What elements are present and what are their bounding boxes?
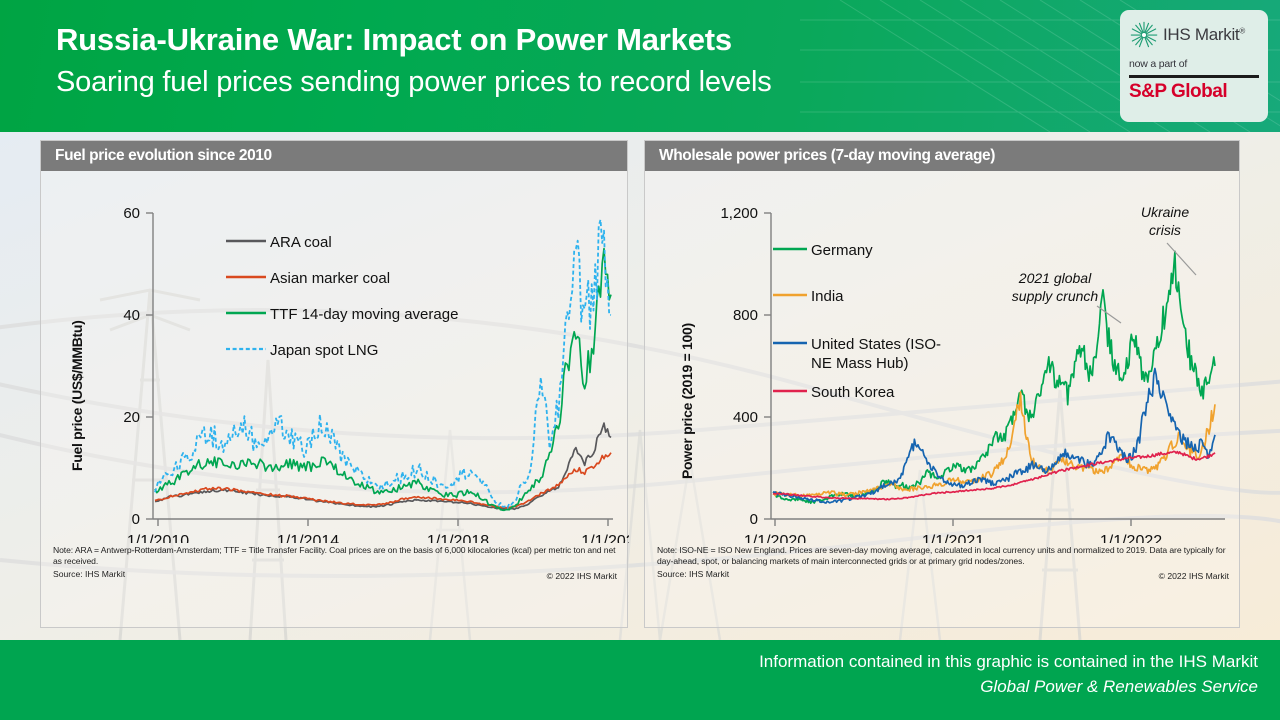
slide-header: Russia-Ukraine War: Impact on Power Mark… [0, 0, 1280, 132]
series-line-ttf-14-day-moving-average [155, 249, 611, 511]
legend-label: Japan spot LNG [270, 342, 378, 359]
note-source: Source: IHS Markit [53, 569, 617, 579]
svg-text:2021 global: 2021 global [1018, 270, 1092, 286]
note-copyright: © 2022 IHS Markit [1159, 571, 1229, 581]
legend-power-prices: GermanyIndiaUnited States (ISO-NE Mass H… [773, 242, 941, 401]
panel-note-fuel-prices: Note: ARA = Antwerp-Rotterdam-Amsterdam;… [41, 541, 627, 585]
logo-ihs-markit-text: IHS Markit® [1163, 25, 1245, 45]
panel-title-fuel-prices: Fuel price evolution since 2010 [41, 141, 627, 171]
legend-label: Asian marker coal [270, 270, 390, 287]
panel-power-prices: Wholesale power prices (7-day moving ave… [644, 140, 1240, 628]
series-line-ara-coal [155, 423, 611, 510]
legend-label: South Korea [811, 384, 895, 401]
svg-text:Ukraine: Ukraine [1141, 204, 1189, 220]
panel-note-power-prices: Note: ISO-NE = ISO New England. Prices a… [645, 541, 1239, 585]
legend-label: Germany [811, 242, 873, 259]
legend-label: United States (ISO- [811, 336, 941, 353]
chart-fuel-prices: 0 20 40 60 1/1/2010 1/1/2014 1/1/2018 1/… [41, 171, 627, 543]
ytick-label: 20 [123, 409, 140, 426]
logo-trademark: ® [1239, 26, 1245, 35]
ytick-label: 1,200 [720, 205, 758, 222]
note-text: Note: ARA = Antwerp-Rotterdam-Amsterdam;… [53, 545, 617, 568]
footer-text-line1: Information contained in this graphic is… [759, 652, 1258, 672]
series-line-asian-marker-coal [155, 453, 611, 508]
logo-tagline: now a part of [1129, 58, 1259, 70]
footer-text-line2: Global Power & Renewables Service [980, 677, 1258, 697]
panel-title-power-prices: Wholesale power prices (7-day moving ave… [645, 141, 1239, 171]
axis-lines [146, 213, 613, 526]
ytick-label: 0 [132, 511, 140, 528]
panel-body-fuel-prices: 0 20 40 60 1/1/2010 1/1/2014 1/1/2018 1/… [41, 171, 627, 585]
legend-label: ARA coal [270, 234, 332, 251]
ihs-markit-sunburst-icon [1129, 20, 1159, 50]
yaxis-label-fuel: Fuel price (US$/MMBtu) [69, 320, 85, 471]
logo-divider [1129, 75, 1259, 78]
slide: Russia-Ukraine War: Impact on Power Mark… [0, 0, 1280, 720]
series-group-fuel [155, 220, 611, 511]
panel-body-power-prices: 0 400 800 1,200 1/1/2020 1/1/2021 1/1/20… [645, 171, 1239, 585]
ytick-label: 40 [123, 307, 140, 324]
page-title: Russia-Ukraine War: Impact on Power Mark… [56, 22, 732, 58]
legend-label: NE Mass Hub) [811, 355, 909, 372]
panel-fuel-prices: Fuel price evolution since 2010 [40, 140, 628, 628]
yaxis-label-power: Power price (2019 = 100) [679, 323, 695, 479]
logo-sp-global: S&P Global [1129, 81, 1259, 103]
ytick-label: 0 [750, 511, 758, 528]
legend-label: TTF 14-day moving average [270, 306, 458, 323]
ytick-label: 60 [123, 205, 140, 222]
series-line-india [773, 392, 1215, 498]
slide-footer: Information contained in this graphic is… [0, 640, 1280, 720]
svg-text:crisis: crisis [1149, 222, 1181, 238]
note-source: Source: IHS Markit [657, 569, 1229, 579]
legend-label: India [811, 288, 844, 305]
note-copyright: © 2022 IHS Markit [547, 571, 617, 581]
note-text: Note: ISO-NE = ISO New England. Prices a… [657, 545, 1229, 568]
brand-logo: IHS Markit® now a part of S&P Global [1120, 10, 1268, 122]
ytick-label: 800 [733, 307, 758, 324]
chart-power-prices: 0 400 800 1,200 1/1/2020 1/1/2021 1/1/20… [645, 171, 1239, 543]
annotation-ukraine-crisis: Ukraine crisis [1141, 204, 1196, 275]
ytick-label: 400 [733, 409, 758, 426]
legend-fuel-prices: ARA coalAsian marker coalTTF 14-day movi… [226, 234, 458, 359]
page-subtitle: Soaring fuel prices sending power prices… [56, 66, 772, 99]
logo-brand-name: IHS Markit [1163, 25, 1239, 44]
svg-text:supply crunch: supply crunch [1012, 288, 1099, 304]
